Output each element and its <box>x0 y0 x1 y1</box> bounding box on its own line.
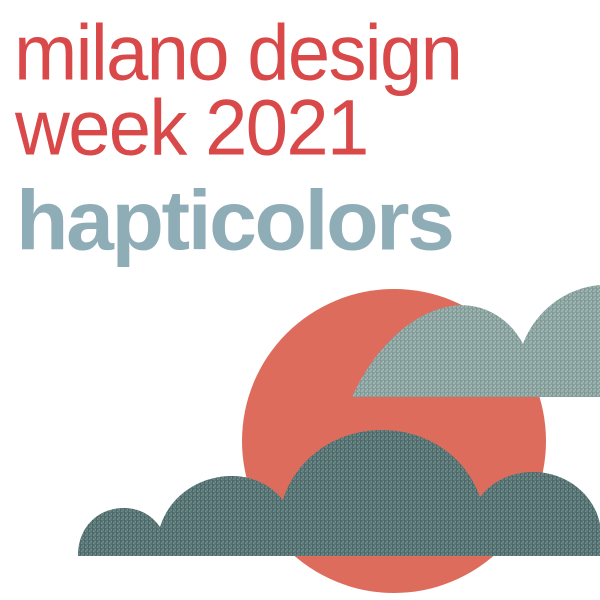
poster-artwork <box>0 0 600 600</box>
poster-canvas: milano design week 2021 hapticolors <box>0 0 600 600</box>
